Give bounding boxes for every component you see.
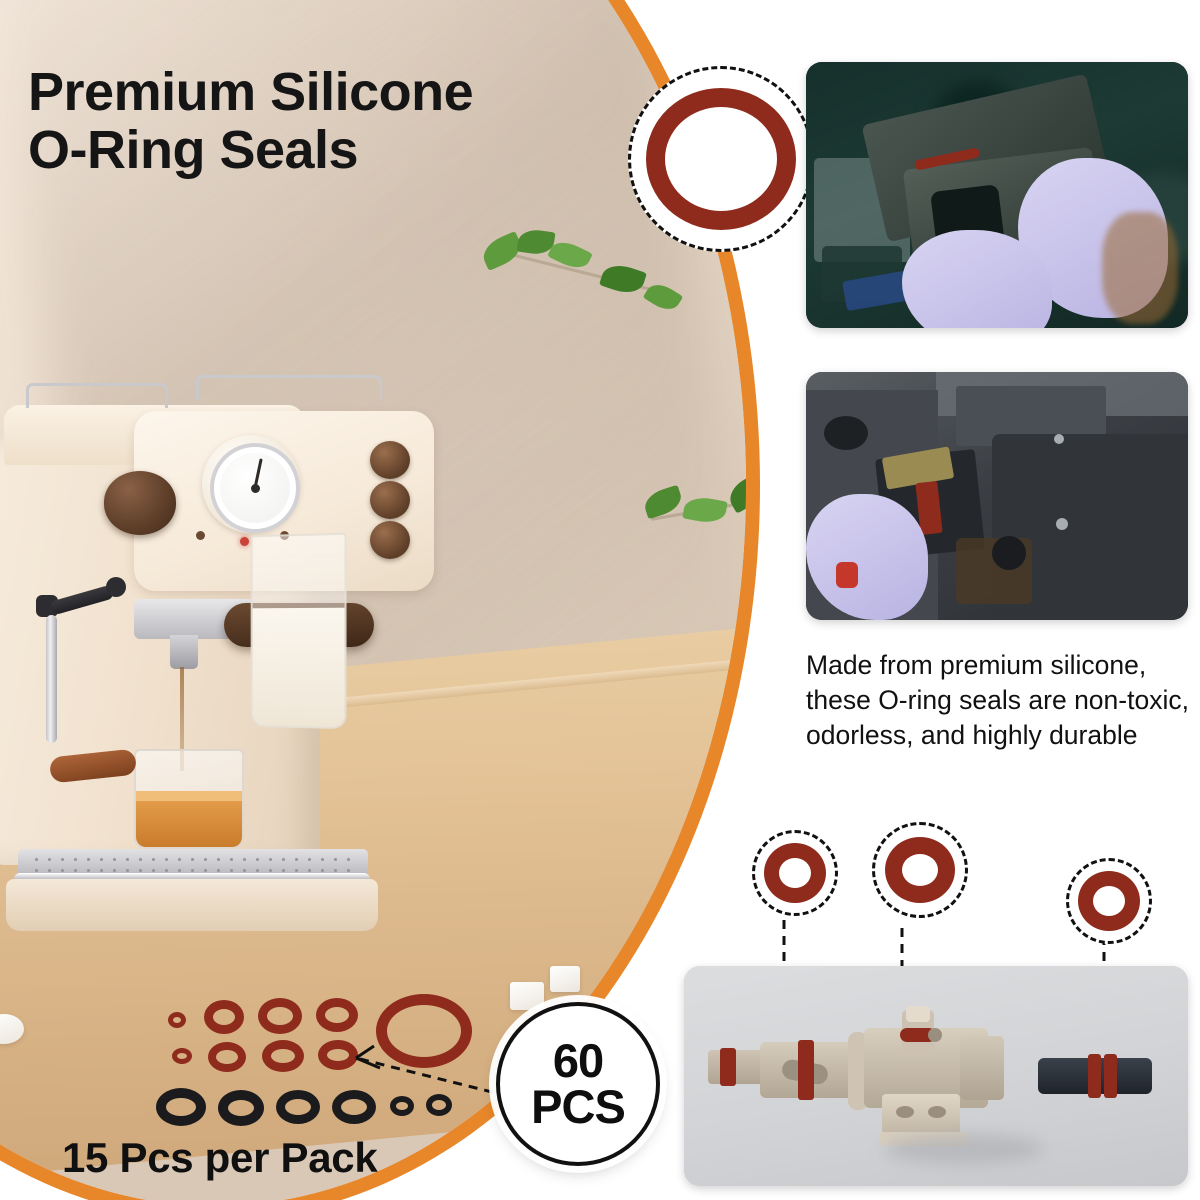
oring-black-4 — [332, 1090, 376, 1124]
steam-wand-tube — [46, 615, 57, 743]
oring-assortment — [154, 992, 434, 1112]
indicator-led-power — [240, 537, 249, 546]
oring-icon — [1078, 871, 1140, 931]
page-title-line-2: O-Ring Seals — [28, 122, 648, 180]
oring-red-small-2 — [172, 1048, 192, 1064]
pressure-gauge — [202, 435, 300, 533]
milk-fill — [253, 608, 345, 727]
oring-red-small-1 — [168, 1012, 186, 1028]
valve-oring-callout-right — [1066, 858, 1152, 944]
control-knob-3 — [370, 521, 410, 559]
product-description: Made from premium silicone, these O-ring… — [806, 648, 1198, 753]
page-title-line-1: Premium Silicone — [28, 64, 648, 122]
valve-oring-callout-middle — [872, 822, 968, 918]
oring-red-6 — [318, 1040, 358, 1070]
oring-black-1 — [156, 1088, 206, 1126]
steam-wand-knob — [106, 577, 126, 597]
sugar-cube-1 — [510, 982, 544, 1010]
technician-holding-housing-photo — [806, 62, 1188, 328]
cup-warmer-rail-left — [26, 383, 168, 408]
control-knob-2 — [370, 481, 410, 519]
cup-crema — [136, 791, 242, 801]
oring-red-4 — [208, 1042, 246, 1072]
gauge-bezel — [210, 443, 300, 533]
oring-black-6 — [426, 1094, 452, 1116]
machine-base — [6, 879, 378, 931]
oring-icon — [885, 837, 955, 903]
oring-red-2 — [258, 998, 302, 1034]
gauge-hub — [251, 484, 260, 493]
portafilter-spout — [170, 635, 198, 669]
oring-icon — [646, 88, 796, 230]
plant-sprig-upper — [474, 226, 704, 316]
hero-oring-callout — [628, 66, 814, 252]
valve-oring-callout-left — [752, 830, 838, 916]
oring-red-5 — [262, 1040, 304, 1072]
oring-black-2 — [218, 1090, 264, 1126]
plant-sprig-lower — [644, 464, 746, 554]
gauge-face — [220, 453, 290, 523]
espresso-machine — [0, 349, 454, 949]
oring-black-3 — [276, 1090, 320, 1124]
espresso-cup — [134, 749, 244, 849]
oring-red-large — [376, 994, 472, 1068]
valve-parts-with-orings-photo — [684, 966, 1188, 1186]
badge-count: 60 — [553, 1038, 603, 1084]
cup-warmer-rail-right — [196, 375, 382, 400]
sugar-cube-2 — [550, 966, 580, 992]
control-knob-1 — [370, 441, 410, 479]
badge-unit: PCS — [531, 1084, 625, 1130]
infographic-canvas: Premium Silicone O-Ring Seals — [0, 0, 1200, 1200]
oring-black-5 — [390, 1096, 414, 1116]
quantity-badge: 60 PCS — [496, 1002, 660, 1166]
oring-icon — [764, 843, 826, 903]
oring-red-1 — [204, 1000, 244, 1034]
indicator-led-ready — [196, 531, 205, 540]
page-title: Premium Silicone O-Ring Seals — [28, 64, 648, 180]
technician-servicing-assembly-photo — [806, 372, 1188, 620]
main-selector-knob — [104, 471, 176, 535]
oring-red-3 — [316, 998, 358, 1032]
pack-quantity-note: 15 Pcs per Pack — [62, 1134, 377, 1182]
milk-pitcher — [251, 533, 347, 729]
